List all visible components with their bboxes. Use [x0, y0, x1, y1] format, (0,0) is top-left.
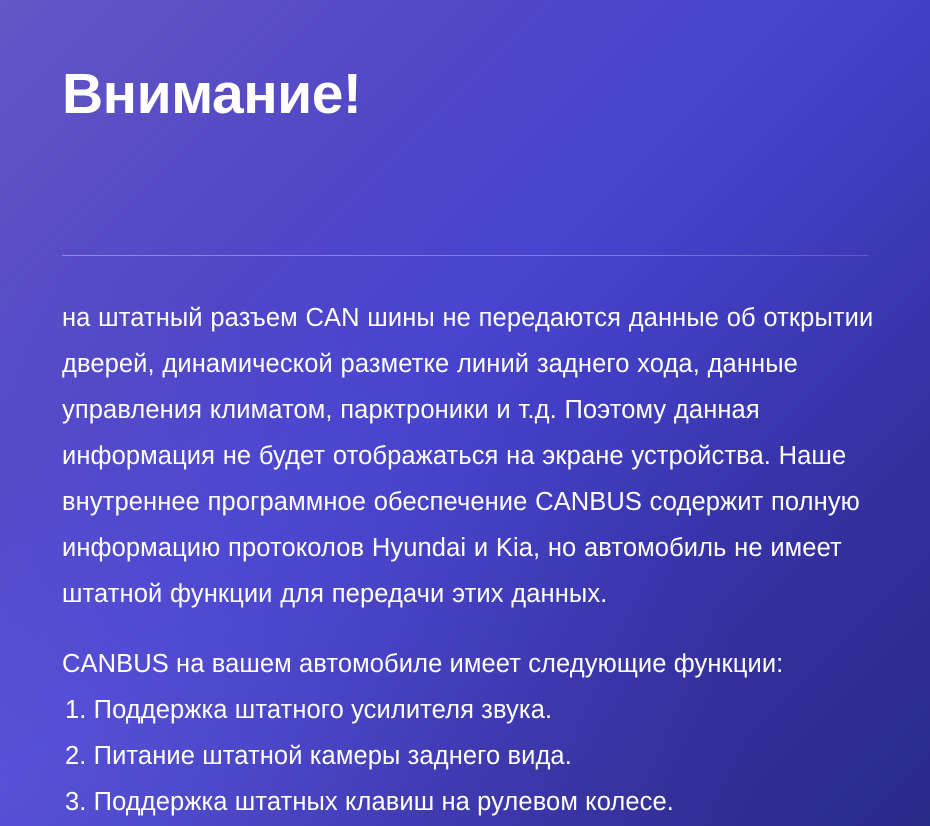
- functions-list: 1. Поддержка штатного усилителя звука. 2…: [62, 687, 874, 825]
- warning-notice-card: Внимание! на штатный разъем CAN шины не …: [0, 0, 930, 826]
- page-title: Внимание!: [62, 65, 361, 124]
- functions-list-intro: CANBUS на вашем автомобиле имеет следующ…: [62, 641, 874, 687]
- notice-body: на штатный разъем CAN шины не передаются…: [62, 295, 874, 825]
- list-item: 1. Поддержка штатного усилителя звука.: [62, 687, 874, 733]
- header-divider: [62, 255, 868, 256]
- list-item: 3. Поддержка штатных клавиш на рулевом к…: [62, 779, 874, 825]
- functions-block: CANBUS на вашем автомобиле имеет следующ…: [62, 641, 874, 825]
- list-item: 2. Питание штатной камеры заднего вида.: [62, 733, 874, 779]
- notice-header: Внимание!: [62, 52, 930, 138]
- notice-paragraph: на штатный разъем CAN шины не передаются…: [62, 295, 874, 617]
